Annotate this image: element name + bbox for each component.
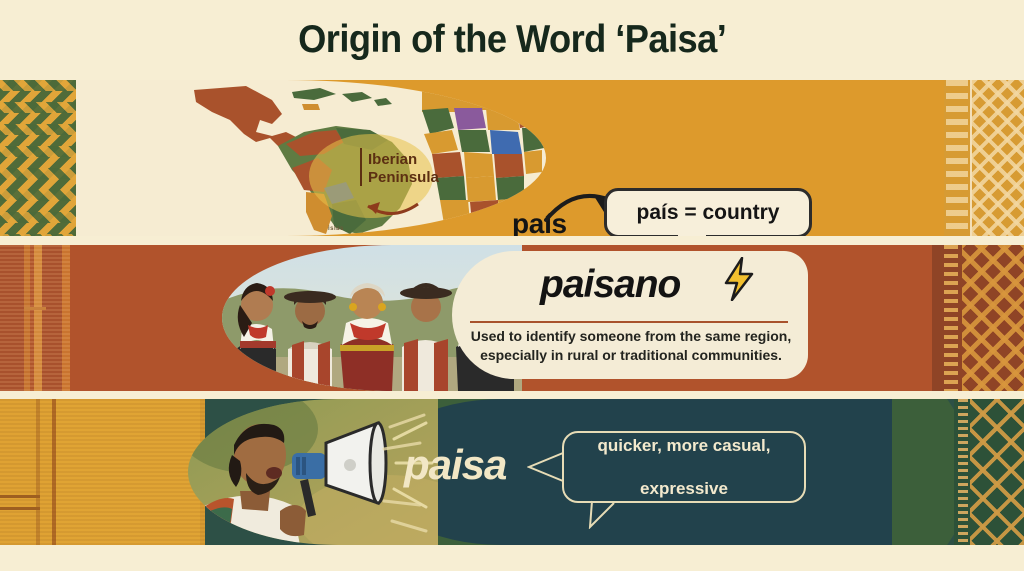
map-label-line2: Peninsula	[368, 169, 440, 186]
speech-bubble-pais-text: país = country	[637, 201, 780, 225]
stripe-accent-2	[0, 507, 40, 510]
row-paisano: paisano Used to identify someone from th…	[0, 245, 1024, 391]
infographic-page: Origin of the Word ‘Paisa’	[0, 0, 1024, 571]
speech-bubble-tail-left	[527, 451, 565, 483]
geometric-pattern-right	[932, 245, 1024, 391]
stripe-notch	[24, 307, 46, 310]
speech-bubble-tail	[675, 235, 709, 236]
speech-bubble-paisa-line2: expressive	[598, 478, 771, 499]
lightning-bolt-icon	[722, 257, 756, 301]
card-paisano-description: Used to identify someone from the same r…	[470, 327, 792, 365]
speech-bubble-paisa-text: quicker, more casual, expressive	[598, 435, 771, 499]
speech-bubble-pais: país = country	[604, 188, 812, 236]
card-paisano-description-line1: Used to identify someone from the same r…	[470, 327, 792, 346]
word-paisano: paisano	[540, 263, 680, 307]
stripe-accent-1	[0, 495, 40, 498]
row-paisa: paisa quicker, more casual, expressive	[0, 399, 1024, 545]
chevron-pattern-left-overlay	[0, 80, 78, 236]
cross-weave-pattern-right	[954, 399, 1024, 545]
speech-bubble-paisa: quicker, more casual, expressive	[562, 431, 806, 503]
geometric-pattern-right	[944, 80, 1024, 236]
stripe-texture-left	[0, 399, 205, 545]
page-title-area: Origin of the Word ‘Paisa’	[0, 0, 1024, 80]
map-panel: Iberian Peninsula islas	[76, 80, 546, 236]
map-micro-label: islas	[328, 226, 344, 232]
map-illustration: Iberian Peninsula	[186, 84, 546, 236]
speech-bubble-tail-bottom	[588, 499, 628, 529]
map-label-line1: Iberian	[368, 151, 417, 168]
card-paisano-description-line2: especially in rural or traditional commu…	[470, 346, 792, 365]
card-divider	[470, 321, 788, 323]
row-pais: Iberian Peninsula islas país país = coun…	[0, 80, 1024, 236]
pattern-divider-line	[970, 80, 972, 236]
word-paisa: paisa	[404, 441, 506, 489]
page-title: Origin of the Word ‘Paisa’	[298, 18, 726, 62]
speech-bubble-paisa-line1: quicker, more casual,	[598, 435, 771, 456]
stripe-texture-left	[0, 245, 70, 391]
